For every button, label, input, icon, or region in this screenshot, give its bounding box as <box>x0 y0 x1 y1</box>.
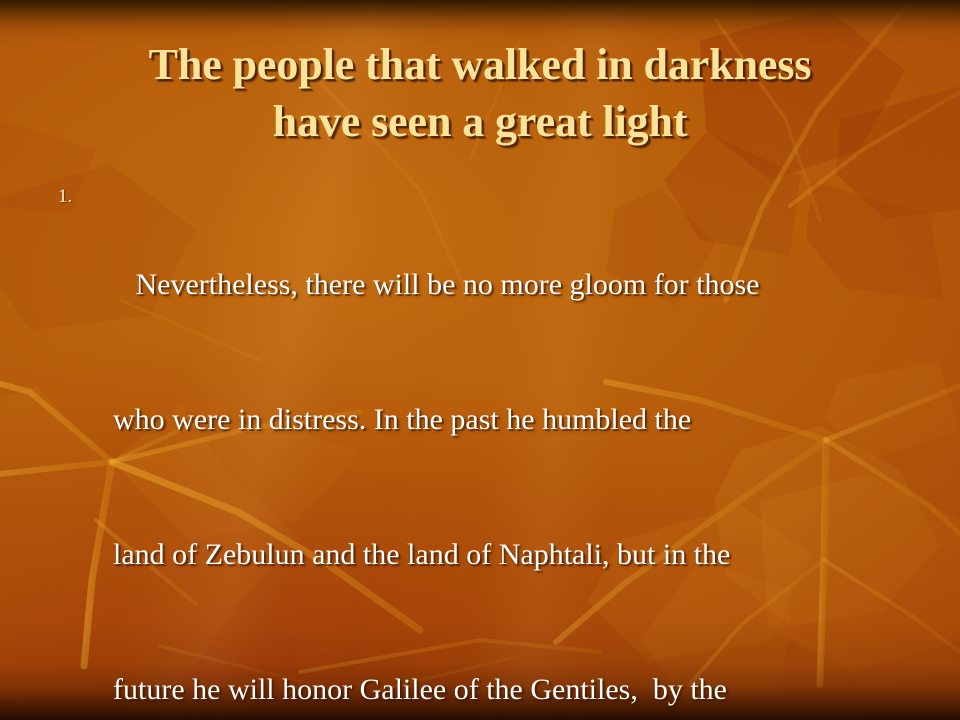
text-line: land of Zebulun and the land of Naphtali… <box>113 532 960 577</box>
slide-body: 1. Nevertheless, there will be no more g… <box>0 172 960 720</box>
list-item-1-text: Nevertheless, there will be no more gloo… <box>0 172 960 720</box>
text-line: who were in distress. In the past he hum… <box>113 397 960 442</box>
slide-content: The people that walked in darkness have … <box>0 0 960 720</box>
slide-title: The people that walked in darkness have … <box>40 36 920 150</box>
text-line: future he will honor Galilee of the Gent… <box>113 667 960 712</box>
text-line: Nevertheless, there will be no more gloo… <box>113 262 960 307</box>
presentation-slide: The people that walked in darkness have … <box>0 0 960 720</box>
list-marker-1: 1. <box>58 186 72 208</box>
list-item: 1. Nevertheless, there will be no more g… <box>0 172 960 720</box>
